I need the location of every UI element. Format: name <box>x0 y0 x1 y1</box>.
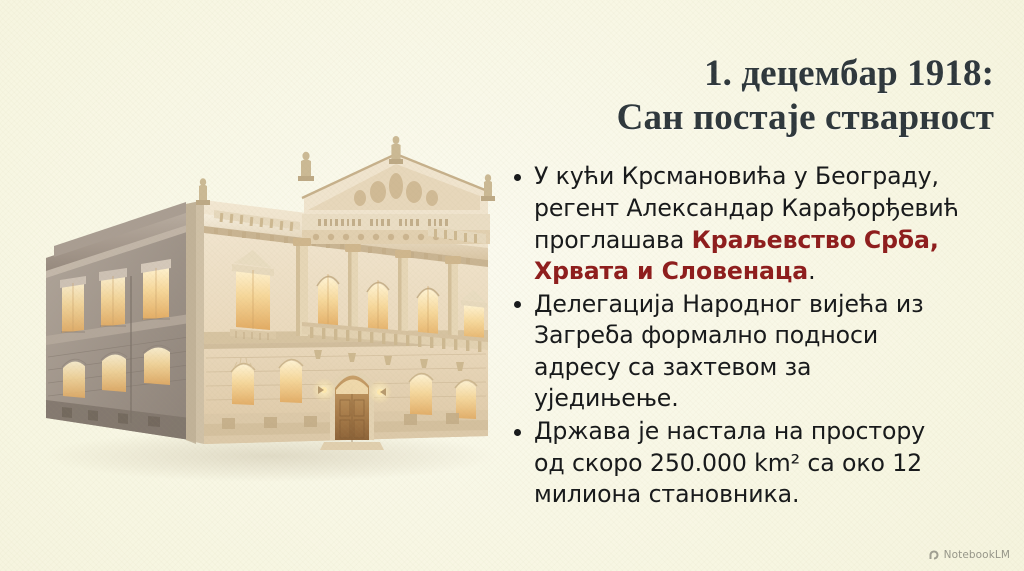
bullet-text-pre: Делегација Народног вијећа из Загреба фо… <box>534 290 924 413</box>
notebooklm-label: NotebookLM <box>944 549 1010 561</box>
notebooklm-watermark: NotebookLM <box>928 549 1010 561</box>
bullet-dot-icon <box>514 429 521 436</box>
facade-inscription <box>318 219 448 226</box>
bullet-dot-icon <box>514 174 521 181</box>
bullet-dot-icon <box>514 301 521 308</box>
title-line-2: Сан постаје стварност <box>508 96 994 140</box>
left-facade <box>46 202 190 440</box>
list-item: Делегација Народног вијећа из Загреба фо… <box>508 289 960 415</box>
slide-canvas: 1. децембар 1918: Сан постаје стварност … <box>0 0 1024 571</box>
building-illustration <box>18 118 510 490</box>
central-pediment <box>302 154 490 244</box>
page-title: 1. децембар 1918: Сан постаје стварност <box>508 52 994 139</box>
bullet-text-pre: Држава је настала на простору од скоро 2… <box>534 417 925 508</box>
bullet-list: У кући Крсмановића у Београду, регент Ал… <box>508 161 960 511</box>
corner-pilaster <box>186 200 204 444</box>
krsmanovic-house-illustration <box>18 118 510 490</box>
notebooklm-spiral-icon <box>928 549 940 561</box>
list-item: У кући Крсмановића у Београду, регент Ал… <box>508 161 960 287</box>
right-facade <box>196 136 495 450</box>
bullet-text-post: . <box>808 257 815 285</box>
text-content: 1. децембар 1918: Сан постаје стварност … <box>508 52 1008 522</box>
title-line-1: 1. децембар 1918: <box>508 52 994 96</box>
list-item: Држава је настала на простору од скоро 2… <box>508 416 960 511</box>
